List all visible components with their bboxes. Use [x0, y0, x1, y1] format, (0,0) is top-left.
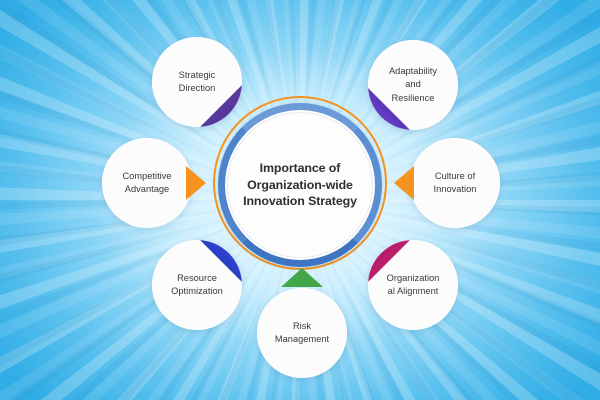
node-label: Risk Management — [257, 288, 347, 378]
node-adaptability-and-resilience[interactable]: Adaptability and Resilience — [368, 40, 458, 130]
node-organizational-alignment[interactable]: Organization al Alignment — [368, 240, 458, 330]
node-label: Competitive Advantage — [102, 138, 192, 228]
node-label: Organization al Alignment — [368, 240, 458, 330]
node-risk-management[interactable]: Risk Management — [257, 288, 347, 378]
arrow-up-icon — [281, 268, 323, 287]
node-label: Resource Optimization — [152, 240, 242, 330]
diagram-canvas: Strategic Direction Adaptability and Res… — [0, 0, 600, 400]
node-competitive-advantage[interactable]: Competitive Advantage — [102, 138, 192, 228]
node-resource-optimization[interactable]: Resource Optimization — [152, 240, 242, 330]
arrow-left-icon — [394, 166, 414, 200]
node-label: Strategic Direction — [152, 37, 242, 127]
arrow-right-icon — [186, 166, 206, 200]
node-label: Culture of Innovation — [410, 138, 500, 228]
center-title: Importance of Organization-wide Innovati… — [231, 116, 369, 254]
node-strategic-direction[interactable]: Strategic Direction — [152, 37, 242, 127]
node-culture-of-innovation[interactable]: Culture of Innovation — [410, 138, 500, 228]
node-label: Adaptability and Resilience — [368, 40, 458, 130]
